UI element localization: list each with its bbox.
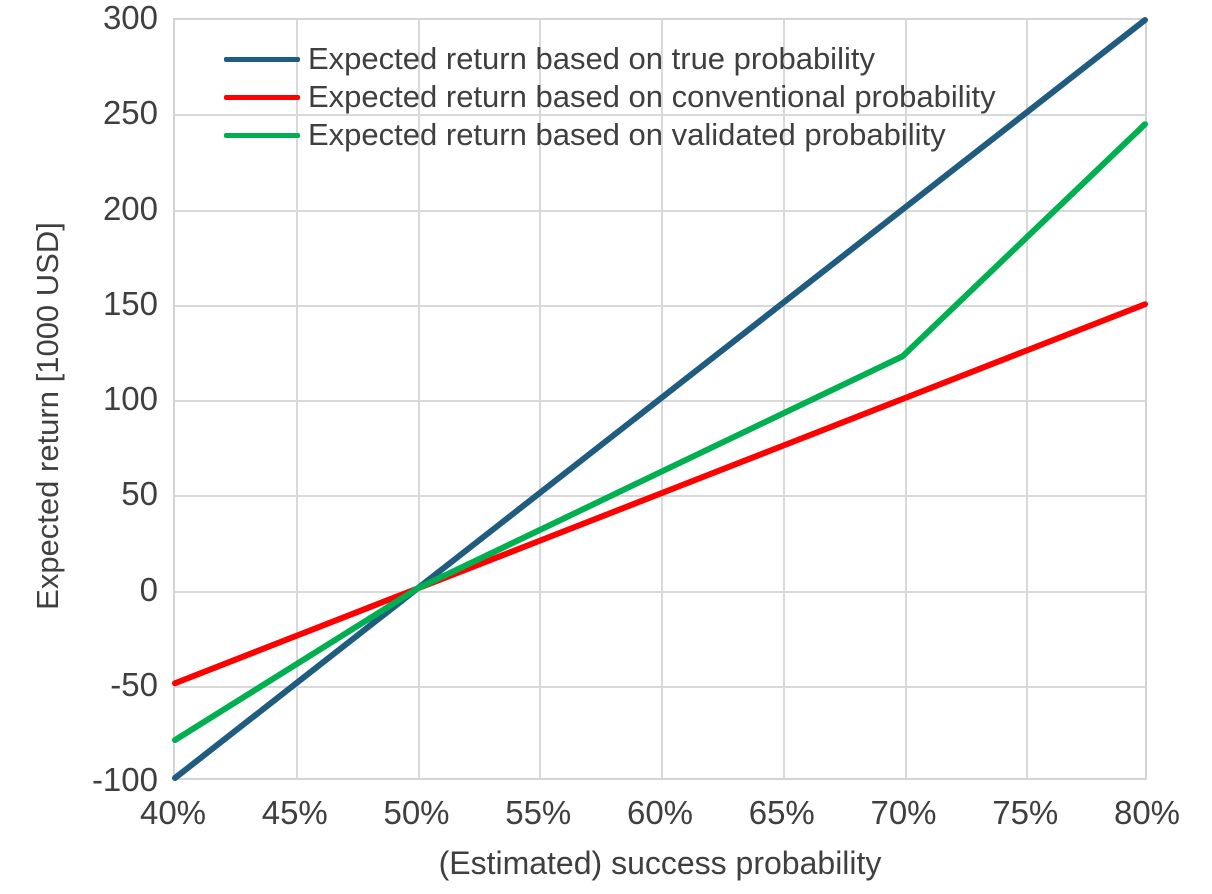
legend-item[interactable]: Expected return based on validated proba… [224, 116, 1024, 154]
chart-legend: Expected return based on true probabilit… [224, 40, 1024, 154]
y-axis-tick-label: 200 [0, 192, 158, 225]
x-axis-tick-label: 50% [352, 795, 482, 831]
legend-item[interactable]: Expected return based on true probabilit… [224, 40, 1024, 78]
y-axis-title: Expected return [1000 USD] [31, 96, 65, 736]
x-axis-tick-label: 70% [839, 795, 969, 831]
legend-color-swatch [224, 95, 300, 100]
y-axis-tick-label: -100 [0, 763, 158, 796]
y-axis-tick-label: 50 [0, 477, 158, 510]
x-axis-tick-label: 40% [108, 795, 238, 831]
y-axis-tick-label: 250 [0, 96, 158, 129]
legend-color-swatch [224, 133, 300, 138]
x-axis-title: (Estimated) success probability [173, 845, 1147, 881]
legend-color-swatch [224, 57, 300, 62]
x-axis-tick-label: 60% [595, 795, 725, 831]
y-axis-tick-label: 0 [0, 573, 158, 606]
series-line [175, 124, 1145, 740]
x-axis-tick-label: 55% [473, 795, 603, 831]
chart-container: 300250200150100500-50-100 40%45%50%55%60… [0, 0, 1212, 894]
series-line [175, 304, 1145, 683]
x-axis-tick-label: 65% [717, 795, 847, 831]
y-axis-tick-label: 300 [0, 1, 158, 34]
x-axis-tick-label: 75% [960, 795, 1090, 831]
legend-item-label: Expected return based on true probabilit… [308, 42, 875, 76]
x-axis-tick-label: 45% [230, 795, 360, 831]
x-axis-tick-label: 80% [1082, 795, 1212, 831]
y-axis-tick-label: 150 [0, 287, 158, 320]
y-axis-tick-label: 100 [0, 382, 158, 415]
legend-item-label: Expected return based on conventional pr… [308, 80, 996, 114]
y-axis-tick-label: -50 [0, 668, 158, 701]
legend-item-label: Expected return based on validated proba… [308, 118, 946, 152]
legend-item[interactable]: Expected return based on conventional pr… [224, 78, 1024, 116]
